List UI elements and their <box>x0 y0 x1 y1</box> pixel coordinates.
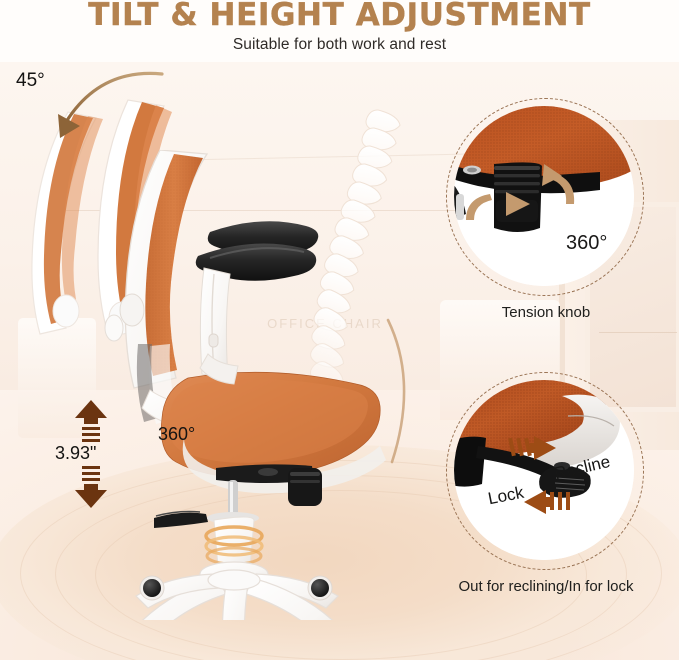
detail-photo-recline-lever: Recline Lock <box>454 380 634 560</box>
detail-caption-recline-lever: Out for reclining/In for lock <box>416 578 676 595</box>
office-chair-illustration <box>92 150 432 620</box>
header: TILT & HEIGHT ADJUSTMENT Suitable for bo… <box>0 0 679 62</box>
gas-cylinder <box>206 517 262 569</box>
height-adjust-annotation: 3.93" <box>55 400 147 508</box>
page-title: TILT & HEIGHT ADJUSTMENT <box>0 0 679 32</box>
tilt-angle-label: 45° <box>16 70 45 92</box>
height-range-label: 3.93" <box>55 443 147 464</box>
armrest <box>196 221 319 384</box>
swivel-angle-label: 360° <box>158 424 195 445</box>
detail-caption-tension-knob: Tension knob <box>416 304 676 321</box>
knob-cylinder <box>494 162 542 232</box>
page-subtitle: Suitable for both work and rest <box>0 36 679 54</box>
infographic-page: OFFICE CHAIR <box>0 0 679 660</box>
detail-recline-lever: Recline Lock Out for reclining/In for lo… <box>446 372 642 568</box>
detail-photo-tension-knob: 360° <box>454 106 634 286</box>
knob-rotation-badge: 360° <box>566 232 607 255</box>
tilt-angle-annotation: 45° <box>12 62 192 142</box>
cabinet-shelf <box>599 332 677 333</box>
detail-tension-knob: 360° Tension knob <box>446 98 642 294</box>
